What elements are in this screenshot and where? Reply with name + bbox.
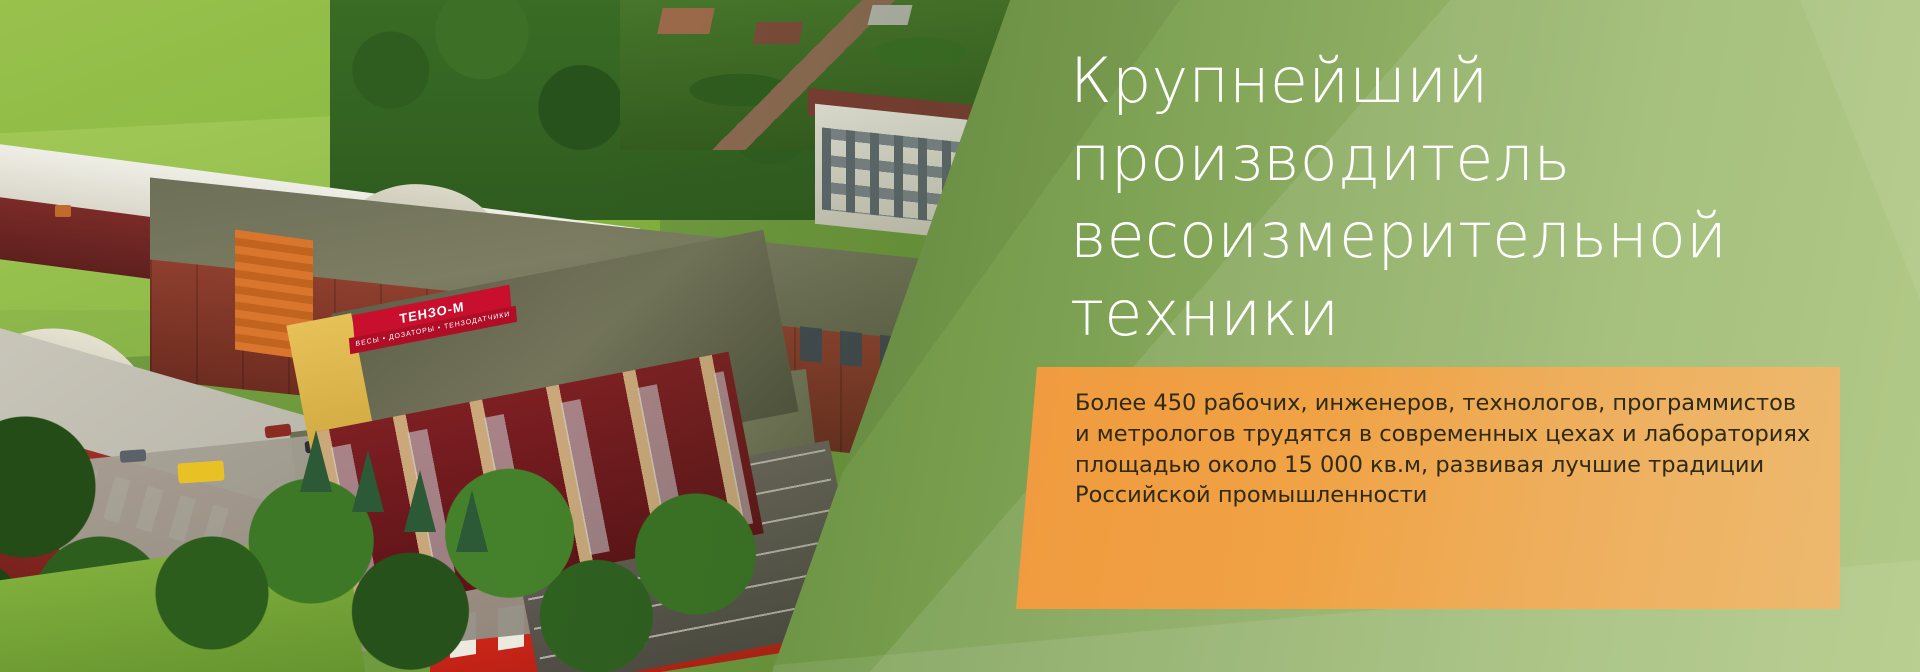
banner-headline: Крупнейший производитель весоизмерительн…	[1070, 42, 1890, 352]
callout-line-1: Более 450 рабочих, инженеров, технологов…	[1075, 388, 1835, 419]
headline-line-4: техники	[1070, 275, 1890, 353]
headline-line-1: Крупнейший	[1070, 42, 1890, 120]
callout-line-4: Российской промышленности	[1075, 480, 1835, 511]
headline-line-3: весоизмерительной	[1070, 197, 1890, 275]
headline-line-2: производитель	[1070, 120, 1890, 198]
callout-line-2: и метрологов трудятся в современных цеха…	[1075, 419, 1835, 450]
callout-line-3: площадью около 15 000 кв.м, развивая луч…	[1075, 450, 1835, 481]
callout-text: Более 450 рабочих, инженеров, технологов…	[1075, 388, 1835, 511]
hero-banner: ТЕНЗО-М ВЕСЫ • ДОЗАТОРЫ • ТЕНЗОДАТЧИКИ К…	[0, 0, 1920, 672]
